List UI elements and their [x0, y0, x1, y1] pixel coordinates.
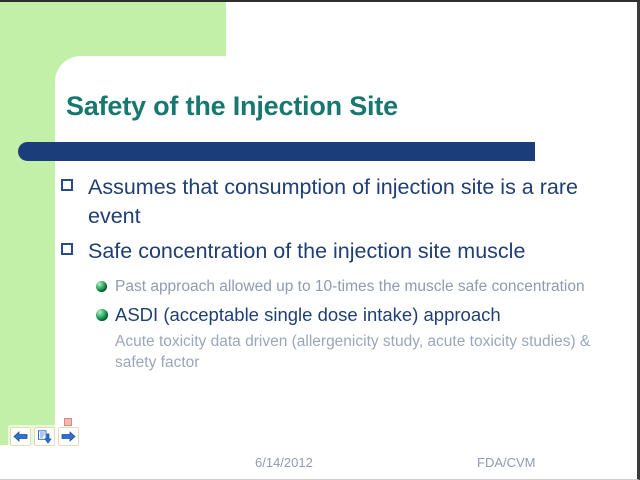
bullet-text: Assumes that consumption of injection si… [88, 173, 622, 231]
list-item: Assumes that consumption of injection si… [60, 173, 622, 231]
close-toolbar-button[interactable] [64, 418, 72, 426]
previous-slide-button[interactable] [10, 427, 31, 446]
list-item: ASDI (acceptable single dose intake) app… [96, 302, 622, 327]
arrow-right-icon [61, 431, 76, 442]
notes-download-icon [37, 430, 52, 444]
arrow-left-icon [13, 431, 28, 442]
list-item: Safe concentration of the injection site… [60, 237, 622, 266]
open-square-bullet-icon [61, 179, 73, 191]
sub-bullet-text: Past approach allowed up to 10-times the… [115, 278, 585, 295]
page-title: Safety of the Injection Site [66, 90, 606, 122]
next-slide-button[interactable] [58, 427, 79, 446]
sub-bullet-note: Acute toxicity data driven (allergenicit… [96, 331, 622, 373]
open-square-bullet-icon [61, 243, 73, 255]
title-underline-bar [18, 142, 535, 161]
green-sphere-bullet-icon [96, 309, 108, 321]
slide-body: Assumes that consumption of injection si… [60, 173, 622, 373]
slide-navigation-toolbar[interactable] [8, 425, 81, 448]
sub-bullet-group: Past approach allowed up to 10-times the… [60, 276, 622, 373]
slide-notes-button[interactable] [34, 427, 55, 446]
green-sphere-bullet-icon [96, 281, 107, 292]
presentation-slide: Safety of the Injection Site Assumes tha… [0, 0, 640, 480]
footer-date: 6/14/2012 [255, 455, 313, 470]
list-item: Past approach allowed up to 10-times the… [96, 276, 622, 297]
bullet-text: Safe concentration of the injection site… [88, 237, 622, 266]
footer-organization: FDA/CVM [477, 455, 536, 470]
sub-bullet-text: ASDI (acceptable single dose intake) app… [115, 304, 501, 325]
